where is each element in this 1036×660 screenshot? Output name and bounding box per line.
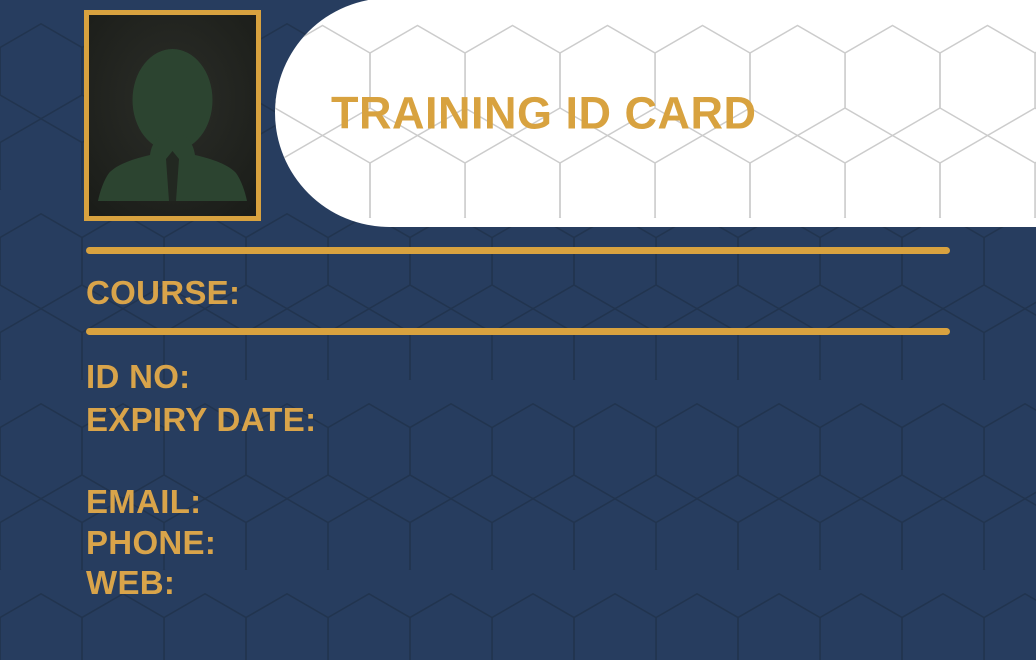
photo-frame[interactable] — [84, 10, 261, 221]
details-section: COURSE: ID NO: EXPIRY DATE: EMAIL: PHONE… — [0, 227, 1036, 660]
person-silhouette-icon — [89, 15, 256, 216]
header-panel: TRAINING ID CARD — [275, 0, 1036, 227]
label-web: WEB: — [86, 566, 175, 599]
label-id-no: ID NO: — [86, 360, 190, 393]
training-id-card: TRAINING ID CARD COURSE: ID NO: EXPIRY D… — [0, 0, 1036, 660]
divider-bottom — [86, 328, 950, 335]
label-course: COURSE: — [86, 276, 240, 309]
label-phone: PHONE: — [86, 526, 216, 559]
label-email: EMAIL: — [86, 485, 201, 518]
page-title: TRAINING ID CARD — [331, 90, 756, 135]
label-expiry-date: EXPIRY DATE: — [86, 403, 316, 436]
divider-top — [86, 247, 950, 254]
